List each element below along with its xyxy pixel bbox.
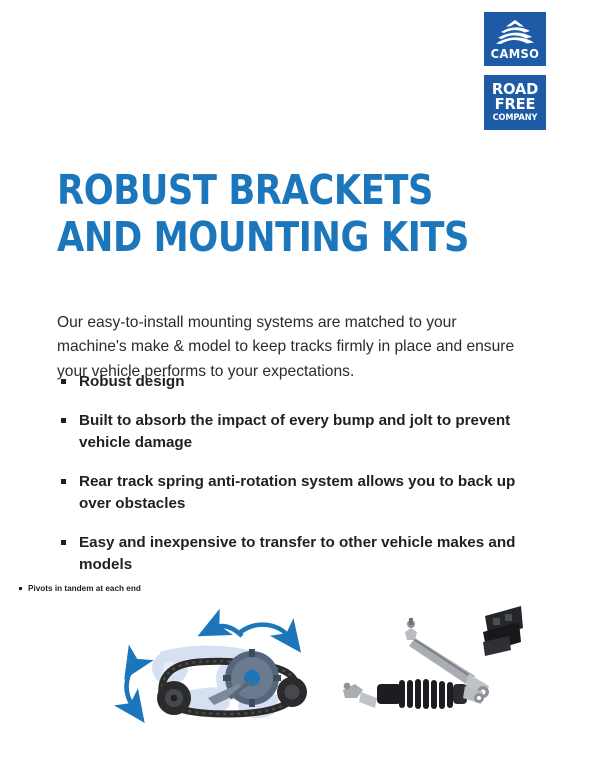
brand-logo-stack: CAMSO ROAD FREE COMPANY (484, 12, 546, 130)
road-free-line-3: COMPANY (486, 114, 545, 122)
camso-wordmark: CAMSO (486, 48, 543, 61)
square-bullet-icon (61, 418, 66, 423)
list-item-label: Robust design (79, 373, 184, 390)
camso-tree-mark-icon (495, 19, 535, 45)
footnote: Pivots in tandem at each end (19, 583, 141, 594)
pivot-arrow-left (127, 664, 135, 708)
feature-list: Robust design Built to absorb the impact… (60, 371, 520, 577)
track-diagram-figure (112, 606, 324, 726)
imagery-band (0, 598, 600, 728)
square-bullet-icon (61, 379, 66, 384)
road-free-lines: ROAD FREE COMPANY (484, 82, 546, 122)
list-item-label: Built to absorb the impact of every bump… (79, 412, 510, 452)
hardware-photo-figure (333, 598, 523, 723)
square-bullet-icon (61, 479, 66, 484)
square-bullet-icon (61, 540, 66, 545)
page-title-line-2: AND MOUNTING KITS (57, 214, 427, 261)
list-item: Easy and inexpensive to transfer to othe… (60, 532, 520, 577)
page-title-line-1: ROBUST BRACKETS (57, 167, 427, 214)
list-item: Robust design (60, 371, 520, 394)
list-item-label: Rear track spring anti-rotation system a… (79, 473, 515, 513)
list-item: Rear track spring anti-rotation system a… (60, 471, 520, 516)
list-item-label: Easy and inexpensive to transfer to othe… (79, 534, 515, 574)
pivot-arrow-right (238, 625, 290, 638)
square-bullet-icon (19, 587, 22, 590)
list-item: Built to absorb the impact of every bump… (60, 410, 520, 455)
page-title: ROBUST BRACKETS AND MOUNTING KITS (57, 167, 427, 261)
footnote-label: Pivots in tandem at each end (28, 584, 141, 593)
road-free-line-2: FREE (486, 97, 545, 112)
camso-logo-badge: CAMSO (484, 12, 546, 66)
road-free-company-badge: ROAD FREE COMPANY (484, 75, 546, 130)
